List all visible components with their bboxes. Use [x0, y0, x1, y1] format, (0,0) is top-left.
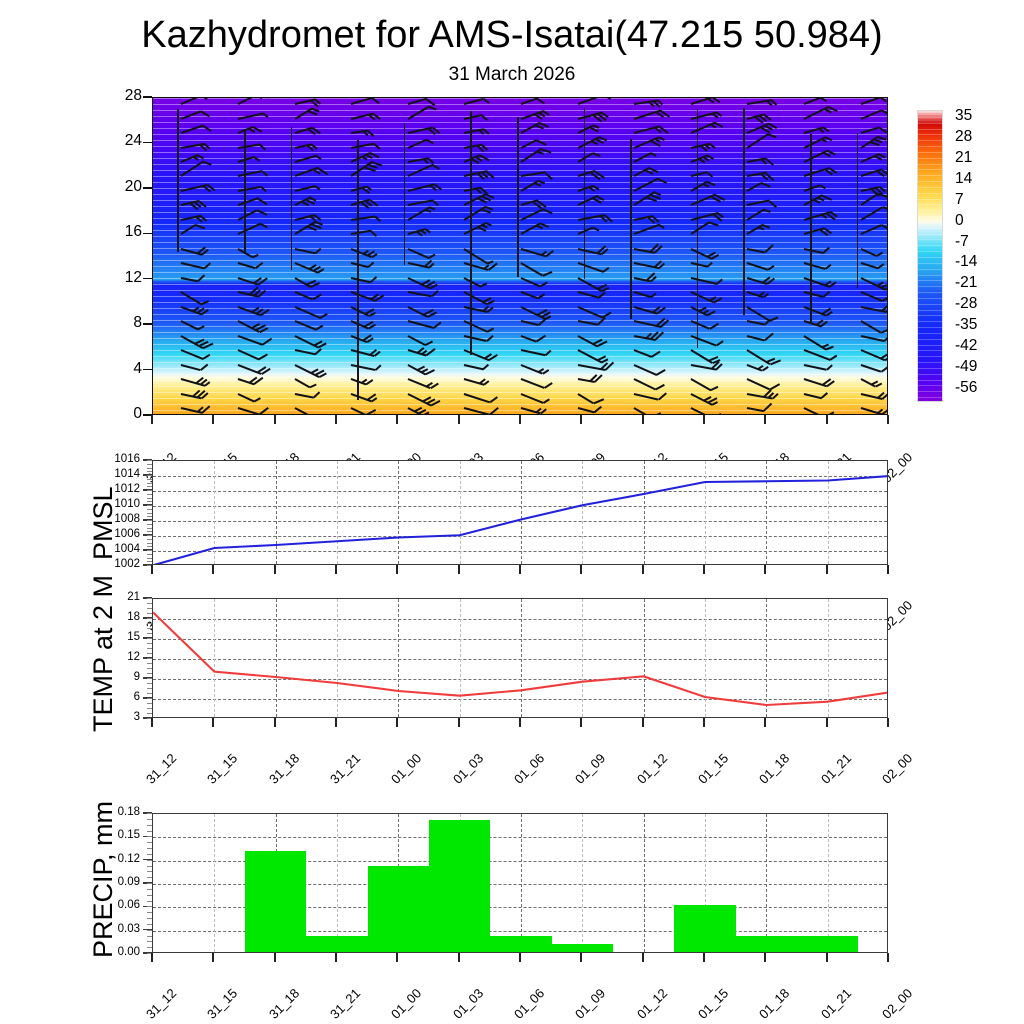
grid-line	[582, 814, 583, 952]
x-tick	[703, 953, 705, 962]
y-minor-tick	[147, 501, 152, 502]
y-minor-tick	[147, 528, 152, 529]
main-y-tick-label: 20	[100, 179, 142, 195]
x-tick	[764, 415, 766, 424]
x-tick	[887, 718, 889, 727]
y-minor-tick	[147, 871, 152, 872]
x-tick	[580, 565, 582, 574]
x-tick	[642, 565, 644, 574]
pmsl-plot	[152, 460, 888, 565]
y-minor-tick	[147, 498, 152, 499]
y-tick-label: 6	[94, 692, 140, 704]
y-minor-tick	[147, 494, 152, 495]
y-minor-tick	[147, 941, 152, 942]
y-minor-tick	[147, 633, 152, 634]
x-tick	[887, 415, 889, 424]
x-tick	[519, 415, 521, 424]
colorbar-tick-label: -35	[955, 316, 977, 334]
y-minor-tick	[147, 598, 152, 599]
y-minor-tick	[147, 930, 152, 931]
x-tick	[274, 415, 276, 424]
x-tick	[274, 718, 276, 727]
y-tick-label: 12	[94, 652, 140, 664]
y-tick-label: 0.09	[92, 877, 140, 889]
y-minor-tick	[147, 623, 152, 624]
main-y-tick	[143, 323, 152, 324]
precip-bar	[429, 820, 490, 952]
y-minor-tick	[147, 638, 152, 639]
y-minor-tick	[147, 643, 152, 644]
x-tick-label: 01_15	[695, 986, 731, 1022]
x-tick	[151, 415, 153, 424]
y-tick-label: 1012	[94, 484, 140, 496]
y-minor-tick	[147, 603, 152, 604]
y-tick-label: 1004	[94, 544, 140, 556]
colorbar-tick-label: -42	[955, 337, 977, 355]
y-minor-tick	[147, 854, 152, 855]
y-tick-label: 1016	[94, 454, 140, 466]
x-tick	[519, 953, 521, 962]
y-minor-tick	[147, 831, 152, 832]
main-y-tick-label: 4	[100, 361, 142, 377]
main-y-tick	[143, 142, 152, 143]
x-tick-label: 01_18	[756, 751, 792, 787]
colorbar-tick-label: -56	[955, 379, 977, 397]
grid-line	[521, 814, 522, 952]
x-tick-label: 31_21	[327, 986, 363, 1022]
grid-line	[644, 814, 645, 952]
grid-line	[214, 814, 215, 952]
y-minor-tick	[147, 483, 152, 484]
x-tick	[274, 953, 276, 962]
main-y-tick	[143, 369, 152, 370]
x-tick	[826, 953, 828, 962]
y-minor-tick	[147, 912, 152, 913]
y-minor-tick	[147, 901, 152, 902]
x-tick	[764, 953, 766, 962]
y-tick-label: 3	[94, 712, 140, 724]
y-minor-tick	[147, 860, 152, 861]
temperature-colorbar	[917, 110, 943, 402]
y-minor-tick	[147, 889, 152, 890]
x-tick-label: 01_15	[695, 751, 731, 787]
y-minor-tick	[147, 524, 152, 525]
x-tick	[703, 718, 705, 727]
y-minor-tick	[147, 558, 152, 559]
y-minor-tick	[147, 668, 152, 669]
x-tick	[212, 415, 214, 424]
main-y-tick-label: 16	[100, 224, 142, 240]
y-minor-tick	[147, 479, 152, 480]
x-tick	[580, 415, 582, 424]
y-tick-label: 0.18	[92, 807, 140, 819]
x-tick	[335, 565, 337, 574]
x-tick	[642, 415, 644, 424]
y-minor-tick	[147, 683, 152, 684]
x-tick	[887, 953, 889, 962]
precip-plot	[152, 813, 888, 953]
x-tick	[396, 718, 398, 727]
colorbar-tick-label: 0	[955, 212, 964, 230]
y-minor-tick	[147, 468, 152, 469]
y-minor-tick	[147, 848, 152, 849]
y-minor-tick	[147, 531, 152, 532]
y-minor-tick	[147, 825, 152, 826]
x-tick	[274, 565, 276, 574]
y-minor-tick	[147, 550, 152, 551]
pmsl-series	[153, 461, 888, 565]
y-tick-label: 1006	[94, 529, 140, 541]
y-minor-tick	[147, 713, 152, 714]
y-minor-tick	[147, 693, 152, 694]
x-tick	[151, 565, 153, 574]
y-tick-label: 1002	[94, 559, 140, 571]
colorbar-tick-label: 35	[955, 107, 972, 125]
x-tick	[396, 953, 398, 962]
x-tick	[642, 718, 644, 727]
y-tick-label: 1010	[94, 499, 140, 511]
y-minor-tick	[147, 543, 152, 544]
precip-bar	[797, 936, 858, 952]
y-tick-label: 9	[94, 672, 140, 684]
precip-bar	[368, 866, 429, 952]
y-tick-label: 0.03	[92, 924, 140, 936]
y-minor-tick	[147, 678, 152, 679]
y-minor-tick	[147, 613, 152, 614]
x-tick-label: 01_03	[450, 986, 486, 1022]
x-tick	[703, 415, 705, 424]
x-tick	[580, 718, 582, 727]
y-minor-tick	[147, 509, 152, 510]
y-minor-tick	[147, 866, 152, 867]
grid-line	[337, 814, 338, 952]
y-tick-label: 1008	[94, 514, 140, 526]
colorbar-tick-label: -7	[955, 233, 969, 251]
y-minor-tick	[147, 561, 152, 562]
x-tick	[703, 565, 705, 574]
x-tick-label: 01_12	[634, 751, 670, 787]
x-tick-label: 31_12	[143, 986, 179, 1022]
main-y-tick	[143, 233, 152, 234]
y-minor-tick	[147, 703, 152, 704]
y-minor-tick	[147, 520, 152, 521]
x-tick	[335, 415, 337, 424]
x-tick-label: 01_09	[572, 986, 608, 1022]
x-tick	[458, 415, 460, 424]
main-y-tick	[143, 96, 152, 97]
main-y-tick-label: 0	[100, 406, 142, 422]
y-minor-tick	[147, 658, 152, 659]
main-y-tick-label: 24	[100, 133, 142, 149]
y-minor-tick	[147, 947, 152, 948]
y-minor-tick	[147, 554, 152, 555]
x-tick	[887, 565, 889, 574]
x-tick	[396, 565, 398, 574]
y-minor-tick	[147, 608, 152, 609]
x-tick-label: 01_18	[756, 986, 792, 1022]
grid-line	[828, 814, 829, 952]
y-minor-tick	[147, 464, 152, 465]
y-minor-tick	[147, 471, 152, 472]
main-y-tick-label: 12	[100, 270, 142, 286]
x-tick-label: 01_12	[634, 986, 670, 1022]
precip-bar	[490, 936, 551, 952]
colorbar-tick-label: 21	[955, 149, 972, 167]
y-minor-tick	[147, 924, 152, 925]
y-minor-tick	[147, 618, 152, 619]
x-tick	[642, 953, 644, 962]
x-tick	[764, 565, 766, 574]
y-minor-tick	[147, 918, 152, 919]
y-minor-tick	[147, 877, 152, 878]
precip-bar	[306, 936, 367, 952]
x-tick	[764, 718, 766, 727]
x-tick-label: 31_18	[266, 986, 302, 1022]
x-tick	[212, 565, 214, 574]
y-minor-tick	[147, 673, 152, 674]
y-minor-tick	[147, 505, 152, 506]
x-tick-label: 01_03	[450, 751, 486, 787]
main-y-tick	[143, 187, 152, 188]
y-tick-label: 0.15	[92, 830, 140, 842]
colorbar-tick-label: -49	[955, 358, 977, 376]
precip-bar	[245, 851, 306, 952]
temp-at-2m-series	[153, 599, 888, 718]
main-y-tick-label: 8	[100, 315, 142, 331]
x-tick	[458, 718, 460, 727]
x-tick	[519, 565, 521, 574]
y-minor-tick	[147, 535, 152, 536]
y-minor-tick	[147, 906, 152, 907]
x-tick	[335, 718, 337, 727]
y-minor-tick	[147, 819, 152, 820]
x-tick-label: 01_06	[511, 986, 547, 1022]
x-tick	[826, 718, 828, 727]
x-tick-label: 01_00	[388, 751, 424, 787]
x-tick-label: 31_15	[204, 751, 240, 787]
y-minor-tick	[147, 460, 152, 461]
precip-bar	[736, 936, 797, 952]
y-minor-tick	[147, 936, 152, 937]
x-tick	[580, 953, 582, 962]
x-tick	[826, 415, 828, 424]
y-minor-tick	[147, 813, 152, 814]
x-tick-label: 31_15	[204, 986, 240, 1022]
y-minor-tick	[147, 895, 152, 896]
colorbar-tick-label: 14	[955, 170, 972, 188]
x-tick	[212, 718, 214, 727]
temp-plot	[152, 598, 888, 718]
y-minor-tick	[147, 883, 152, 884]
precip-bar	[674, 905, 735, 952]
y-minor-tick	[147, 698, 152, 699]
x-tick-label: 02_00	[879, 751, 915, 787]
y-tick-label: 1014	[94, 469, 140, 481]
page-subtitle: 31 March 2026	[0, 64, 1024, 86]
x-tick-label: 01_00	[388, 986, 424, 1022]
grid-line	[766, 814, 767, 952]
x-tick-label: 01_06	[511, 751, 547, 787]
x-tick	[458, 953, 460, 962]
main-y-tick-label: 28	[100, 88, 142, 104]
y-minor-tick	[147, 663, 152, 664]
y-tick-label: 0.06	[92, 900, 140, 912]
colorbar-tick-label: 28	[955, 128, 972, 146]
x-tick-label: 31_12	[143, 751, 179, 787]
colorbar-tick-label: -28	[955, 295, 977, 313]
y-minor-tick	[147, 475, 152, 476]
y-tick-label: 21	[94, 592, 140, 604]
main-y-tick	[143, 278, 152, 279]
x-tick	[458, 565, 460, 574]
colorbar-tick-label: -14	[955, 253, 977, 271]
y-minor-tick	[147, 546, 152, 547]
x-tick	[212, 953, 214, 962]
y-minor-tick	[147, 516, 152, 517]
y-minor-tick	[147, 486, 152, 487]
y-tick-label: 18	[94, 612, 140, 624]
y-minor-tick	[147, 688, 152, 689]
y-minor-tick	[147, 836, 152, 837]
grid-line	[153, 837, 887, 838]
upper-air-cross-section-plot	[152, 97, 888, 415]
x-tick-label: 02_00	[879, 986, 915, 1022]
y-tick-label: 15	[94, 632, 140, 644]
y-minor-tick	[147, 539, 152, 540]
x-tick	[335, 953, 337, 962]
precip-bar	[552, 944, 613, 952]
page-title: Kazhydromet for AMS-Isatai(47.215 50.984…	[0, 14, 1024, 57]
y-tick-label: 0.00	[92, 947, 140, 959]
x-tick-label: 31_18	[266, 751, 302, 787]
y-minor-tick	[147, 490, 152, 491]
y-minor-tick	[147, 648, 152, 649]
colorbar-tick-label: -21	[955, 274, 977, 292]
x-tick	[826, 565, 828, 574]
y-minor-tick	[147, 513, 152, 514]
x-tick-label: 01_09	[572, 751, 608, 787]
y-tick-label: 0.12	[92, 854, 140, 866]
x-tick	[396, 415, 398, 424]
x-tick	[151, 718, 153, 727]
x-tick	[519, 718, 521, 727]
y-minor-tick	[147, 653, 152, 654]
y-minor-tick	[147, 708, 152, 709]
colorbar-tick-label: 7	[955, 191, 964, 209]
y-minor-tick	[147, 842, 152, 843]
x-tick-label: 01_21	[818, 751, 854, 787]
y-minor-tick	[147, 628, 152, 629]
x-tick	[151, 953, 153, 962]
x-tick-label: 01_21	[818, 986, 854, 1022]
x-tick-label: 31_21	[327, 751, 363, 787]
